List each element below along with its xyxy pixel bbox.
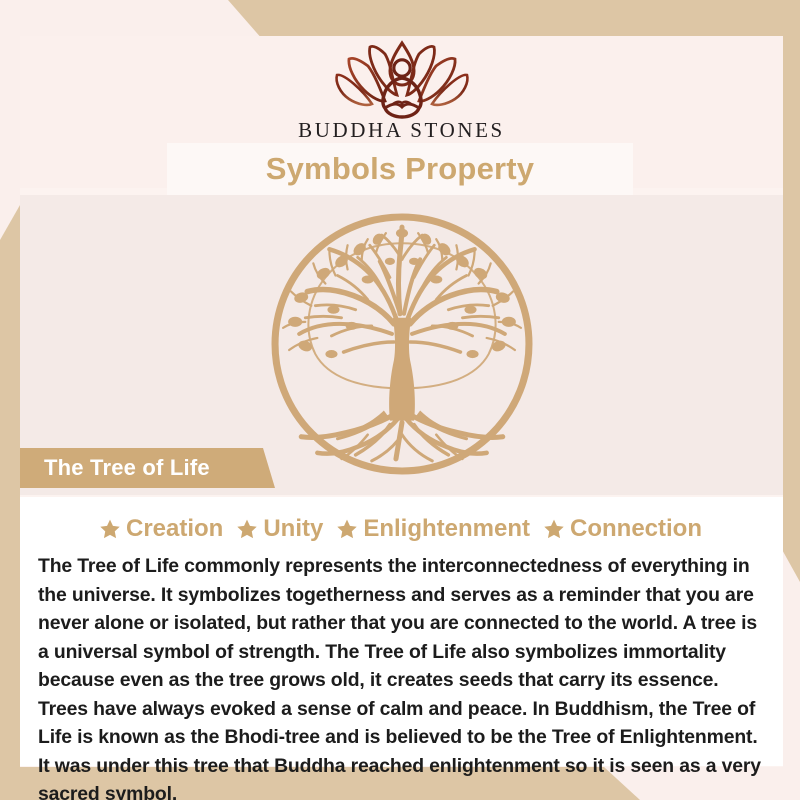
star-icon xyxy=(99,518,121,540)
decor-band-top xyxy=(0,0,800,40)
star-icon xyxy=(336,518,358,540)
keyword-label: Enlightenment xyxy=(363,515,530,543)
keyword-label: Creation xyxy=(126,515,223,543)
keyword-label: Unity xyxy=(263,515,323,543)
keyword-item: Unity xyxy=(236,515,323,543)
poster-root: BUDDHA STONES Symbols Property xyxy=(0,0,800,800)
page-title: Symbols Property xyxy=(266,151,535,187)
title-banner: Symbols Property xyxy=(167,143,633,195)
keyword-item: Enlightenment xyxy=(336,515,530,543)
star-icon xyxy=(236,518,258,540)
star-icon xyxy=(543,518,565,540)
decor-band-left xyxy=(0,205,20,800)
tree-of-life-icon xyxy=(271,213,533,475)
decor-band-right xyxy=(780,0,800,582)
keyword-item: Connection xyxy=(543,515,702,543)
keyword-list: Creation Unity Enlightenment Connection xyxy=(32,515,769,543)
symbol-tab: The Tree of Life xyxy=(20,448,275,488)
brand-name: BUDDHA STONES xyxy=(298,118,505,143)
symbol-tab-label: The Tree of Life xyxy=(20,455,210,481)
brand-logo: BUDDHA STONES xyxy=(20,38,783,143)
symbol-description: The Tree of Life commonly represents the… xyxy=(32,552,769,800)
keyword-label: Connection xyxy=(570,515,702,543)
content-panel: Creation Unity Enlightenment Connection xyxy=(20,497,783,766)
lotus-meditation-figure-icon xyxy=(313,38,491,120)
keyword-item: Creation xyxy=(99,515,223,543)
